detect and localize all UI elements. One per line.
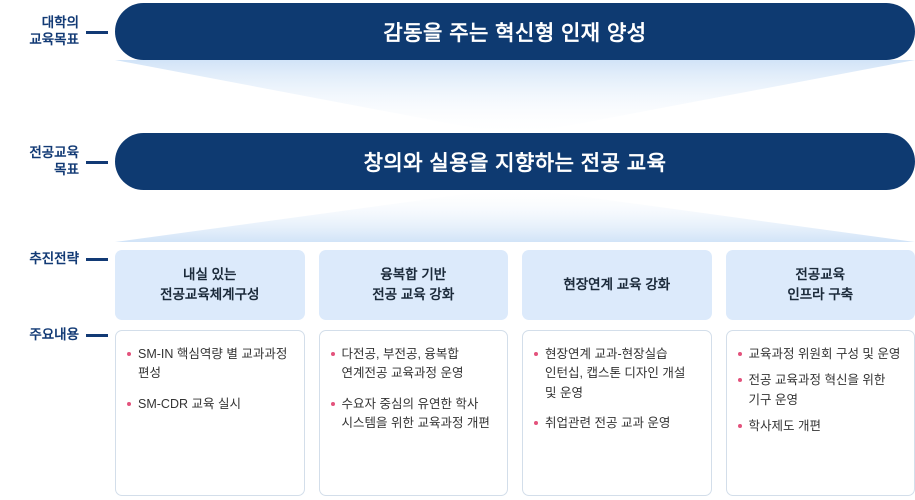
connector-dash-icon	[86, 31, 108, 34]
row-label-strategy-text: 추진전략	[29, 251, 79, 268]
content-list-3: 현장연계 교과-현장실습 인턴십, 캡스톤 디자인 개설 및 운영 취업관련 전…	[534, 345, 700, 434]
funnel-down-icon	[115, 60, 915, 132]
strategy-box-3[interactable]: 현장연계 교육 강화	[522, 250, 712, 320]
list-item: 학사제도 개편	[738, 417, 904, 436]
content-box-row: SM-IN 핵심역량 별 교과과정 편성 SM-CDR 교육 실시 다전공, 부…	[115, 330, 915, 496]
banner-major-goal: 창의와 실용을 지향하는 전공 교육	[115, 133, 915, 190]
list-item: 교육과정 위원회 구성 및 운영	[738, 345, 904, 364]
connector-dash-icon	[86, 258, 108, 261]
row-label-strategy: 추진전략	[0, 246, 108, 272]
row-label-content-text: 주요내용	[29, 327, 79, 344]
row-label-major-goal: 전공교육 목표	[0, 134, 108, 190]
connector-dash-icon	[86, 334, 108, 337]
list-item: SM-CDR 교육 실시	[127, 395, 293, 414]
list-item: 다전공, 부전공, 융복합 연계전공 교육과정 운영	[331, 345, 497, 384]
banner-university-goal: 감동을 주는 혁신형 인재 양성	[115, 3, 915, 60]
content-list-1: SM-IN 핵심역량 별 교과과정 편성 SM-CDR 교육 실시	[127, 345, 293, 414]
list-item: 취업관련 전공 교과 운영	[534, 414, 700, 433]
content-box-1: SM-IN 핵심역량 별 교과과정 편성 SM-CDR 교육 실시	[115, 330, 305, 496]
funnel-spread-icon	[115, 190, 915, 242]
diagram-canvas: 대학의 교육목표 전공교육 목표 추진전략 주요내용 감동을 주는 혁신형 인재…	[0, 0, 915, 500]
content-box-4: 교육과정 위원회 구성 및 운영 전공 교육과정 혁신을 위한 기구 운영 학사…	[726, 330, 915, 496]
content-box-2: 다전공, 부전공, 융복합 연계전공 교육과정 운영 수요자 중심의 유연한 학…	[319, 330, 509, 496]
content-list-2: 다전공, 부전공, 융복합 연계전공 교육과정 운영 수요자 중심의 유연한 학…	[331, 345, 497, 434]
strategy-box-4-label: 전공교육 인프라 구축	[787, 265, 853, 304]
content-box-3: 현장연계 교과-현장실습 인턴십, 캡스톤 디자인 개설 및 운영 취업관련 전…	[522, 330, 712, 496]
strategy-box-2-label: 융복합 기반 전공 교육 강화	[372, 265, 454, 304]
banner-major-goal-text: 창의와 실용을 지향하는 전공 교육	[364, 147, 667, 177]
list-item: SM-IN 핵심역량 별 교과과정 편성	[127, 345, 293, 384]
funnel-connector-top	[115, 60, 915, 132]
strategy-box-2[interactable]: 융복합 기반 전공 교육 강화	[319, 250, 509, 320]
strategy-box-1-label: 내실 있는 전공교육체계구성	[160, 265, 259, 304]
list-item: 전공 교육과정 혁신을 위한 기구 운영	[738, 371, 904, 410]
strategy-box-row: 내실 있는 전공교육체계구성 융복합 기반 전공 교육 강화 현장연계 교육 강…	[115, 250, 915, 320]
funnel-connector-bottom	[115, 190, 915, 242]
connector-dash-icon	[86, 161, 108, 164]
row-label-university-goal-text: 대학의 교육목표	[29, 15, 79, 49]
list-item: 현장연계 교과-현장실습 인턴십, 캡스톤 디자인 개설 및 운영	[534, 345, 700, 403]
strategy-box-3-label: 현장연계 교육 강화	[563, 275, 670, 295]
strategy-box-1[interactable]: 내실 있는 전공교육체계구성	[115, 250, 305, 320]
list-item: 수요자 중심의 유연한 학사 시스템을 위한 교육과정 개편	[331, 395, 497, 434]
row-label-university-goal: 대학의 교육목표	[0, 4, 108, 60]
content-list-4: 교육과정 위원회 구성 및 운영 전공 교육과정 혁신을 위한 기구 운영 학사…	[738, 345, 904, 437]
row-label-content: 주요내용	[0, 322, 108, 348]
strategy-box-4[interactable]: 전공교육 인프라 구축	[726, 250, 915, 320]
row-label-major-goal-text: 전공교육 목표	[29, 145, 79, 179]
banner-university-goal-text: 감동을 주는 혁신형 인재 양성	[383, 17, 646, 47]
